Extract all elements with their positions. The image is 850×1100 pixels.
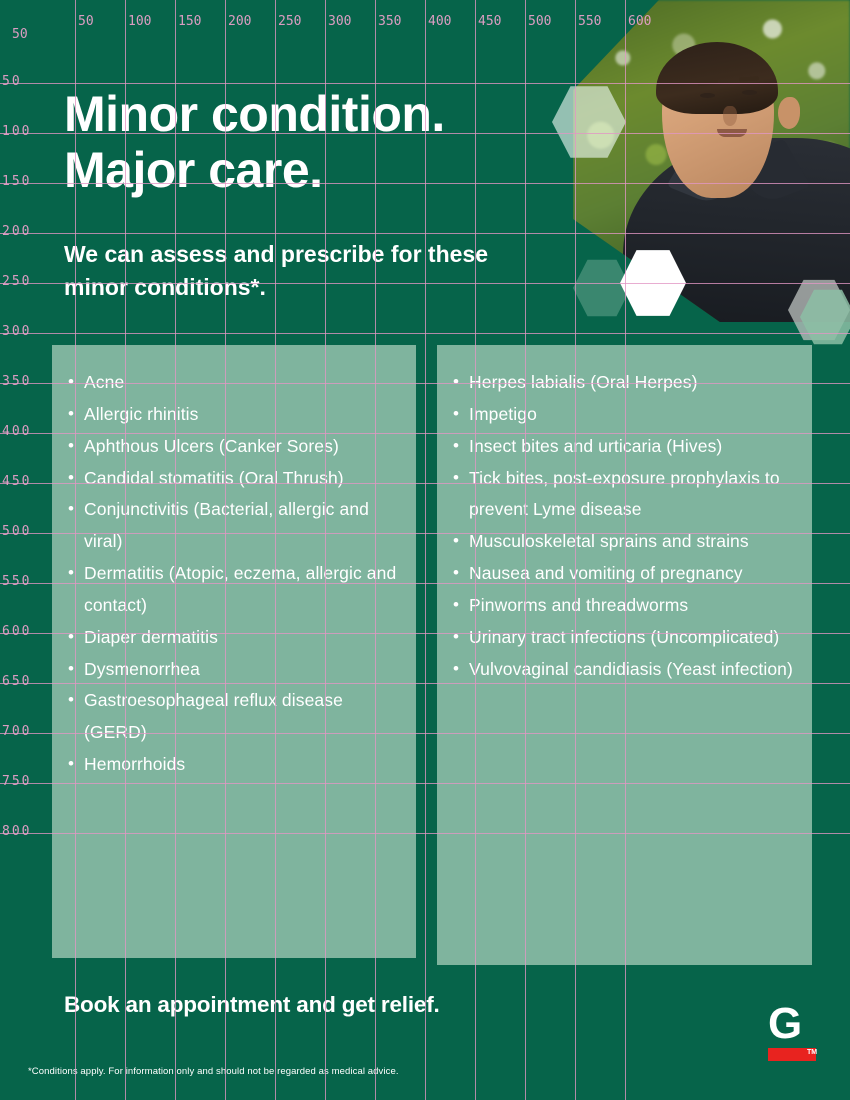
conditions-list-right: Herpes labialis (Oral Herpes)ImpetigoIns…: [451, 367, 794, 685]
page-title: Minor condition. Major care.: [64, 86, 584, 198]
disclaimer-text: *Conditions apply. For information only …: [28, 1066, 399, 1077]
photo-ear: [778, 97, 800, 129]
grid-label-x: 150: [178, 14, 201, 29]
grid-label-x: 100: [128, 14, 151, 29]
grid-label-y: 700: [2, 724, 31, 739]
grid-label-y: 200: [2, 224, 31, 239]
grid-label-x: 250: [278, 14, 301, 29]
grid-label-y: 600: [2, 624, 31, 639]
photo-mouth: [717, 129, 747, 137]
list-item: Urinary tract infections (Uncomplicated): [451, 622, 794, 654]
grid-label-y: 300: [2, 324, 31, 339]
grid-label-y: 450: [2, 474, 31, 489]
grid-label-x: 450: [478, 14, 501, 29]
list-item: Aphthous Ulcers (Canker Sores): [66, 431, 398, 463]
subheading: We can assess and prescribe for these mi…: [64, 238, 564, 303]
list-item: Allergic rhinitis: [66, 399, 398, 431]
list-item: Pinworms and threadworms: [451, 590, 794, 622]
grid-label-y: 150: [2, 174, 31, 189]
grid-label-corner: 50: [12, 27, 28, 42]
grid-label-y: 50: [2, 74, 22, 89]
list-item: Acne: [66, 367, 398, 399]
list-item: Gastroesophageal reflux disease (GERD): [66, 685, 398, 749]
list-item: Tick bites, post-exposure prophylaxis to…: [451, 463, 794, 527]
grid-label-x: 350: [378, 14, 401, 29]
list-item: Candidal stomatitis (Oral Thrush): [66, 463, 398, 495]
list-item: Conjunctivitis (Bacterial, allergic and …: [66, 494, 398, 558]
grid-label-y: 250: [2, 274, 31, 289]
grid-line-horizontal: [0, 333, 850, 334]
brand-logo: G TM: [768, 1004, 826, 1064]
call-to-action-text: Book an appointment and get relief.: [64, 992, 440, 1018]
grid-label-y: 550: [2, 574, 31, 589]
list-item: Impetigo: [451, 399, 794, 431]
conditions-list-left: AcneAllergic rhinitisAphthous Ulcers (Ca…: [66, 367, 398, 781]
poster-canvas: Minor condition. Major care. We can asse…: [0, 0, 850, 1100]
list-item: Musculoskeletal sprains and strains: [451, 526, 794, 558]
list-item: Dysmenorrhea: [66, 654, 398, 686]
conditions-panel-left: AcneAllergic rhinitisAphthous Ulcers (Ca…: [52, 345, 416, 958]
grid-label-y: 400: [2, 424, 31, 439]
list-item: Vulvovaginal candidiasis (Yeast infectio…: [451, 654, 794, 686]
list-item: Nausea and vomiting of pregnancy: [451, 558, 794, 590]
headline-line-1: Minor condition.: [64, 86, 445, 142]
grid-label-y: 650: [2, 674, 31, 689]
list-item: Herpes labialis (Oral Herpes): [451, 367, 794, 399]
list-item: Dermatitis (Atopic, eczema, allergic and…: [66, 558, 398, 622]
grid-label-x: 300: [328, 14, 351, 29]
logo-trademark: TM: [807, 1049, 817, 1056]
hexagon-decoration-mid-left: [573, 258, 631, 318]
subheading-line-1: We can assess and prescribe for these: [64, 241, 488, 267]
grid-label-y: 350: [2, 374, 31, 389]
logo-letter-g: G: [768, 1004, 826, 1044]
list-item: Insect bites and urticaria (Hives): [451, 431, 794, 463]
conditions-panel-right: Herpes labialis (Oral Herpes)ImpetigoIns…: [437, 345, 812, 965]
grid-label-x: 550: [578, 14, 601, 29]
grid-label-y: 800: [2, 824, 31, 839]
grid-label-y: 750: [2, 774, 31, 789]
headline-line-2: Major care.: [64, 142, 323, 198]
photo-nose: [723, 106, 737, 126]
grid-label-x: 200: [228, 14, 251, 29]
grid-label-x: 50: [78, 14, 94, 29]
grid-label-x: 400: [428, 14, 451, 29]
grid-label-y: 500: [2, 524, 31, 539]
grid-label-x: 500: [528, 14, 551, 29]
list-item: Diaper dermatitis: [66, 622, 398, 654]
list-item: Hemorrhoids: [66, 749, 398, 781]
grid-label-y: 100: [2, 124, 31, 139]
subheading-line-2: minor conditions*.: [64, 274, 266, 300]
